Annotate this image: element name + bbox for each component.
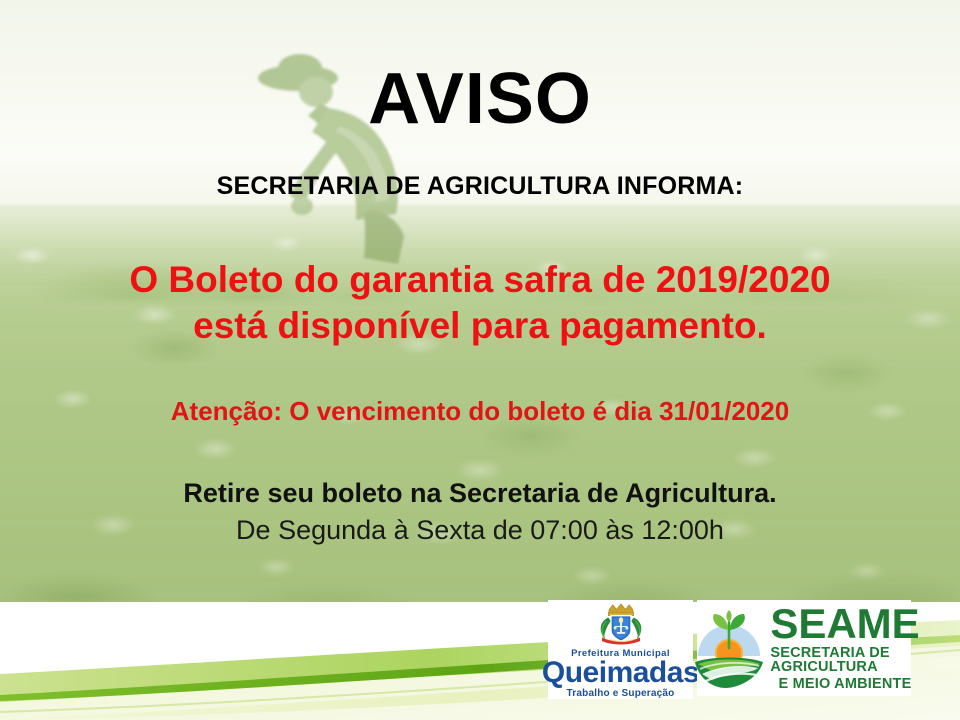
sprout-sun-field-icon xyxy=(692,608,766,688)
poster-title: AVISO xyxy=(0,63,960,135)
queimadas-slogan: Trabalho e Superação xyxy=(567,688,675,699)
headline-line-1: O Boleto do garantia safra de 2019/2020 xyxy=(0,257,960,303)
seame-subtitle-line-2: E MEIO AMBIENTE xyxy=(770,677,919,692)
queimadas-coat-of-arms-icon xyxy=(590,603,652,647)
seame-wordmark: SEAME SECRETARIA DE AGRICULTURA E MEIO A… xyxy=(770,605,919,691)
seame-subtitle-line-1: SECRETARIA DE AGRICULTURA xyxy=(770,646,919,675)
aviso-poster: AVISO SECRETARIA DE AGRICULTURA INFORMA:… xyxy=(0,0,960,720)
poster-due-date-notice: Atenção: O vencimento do boleto é dia 31… xyxy=(0,396,960,427)
queimadas-logo: Prefeitura Municipal Queimadas Trabalho … xyxy=(548,600,693,699)
seame-acronym: SEAME xyxy=(770,605,919,644)
poster-opening-hours: De Segunda à Sexta de 07:00 às 12:00h xyxy=(0,515,960,546)
poster-headline: O Boleto do garantia safra de 2019/2020 … xyxy=(0,257,960,350)
headline-line-2: está disponível para pagamento. xyxy=(0,303,960,349)
poster-subtitle: SECRETARIA DE AGRICULTURA INFORMA: xyxy=(0,172,960,201)
poster-content: AVISO SECRETARIA DE AGRICULTURA INFORMA:… xyxy=(0,0,960,602)
seame-logo: SEAME SECRETARIA DE AGRICULTURA E MEIO A… xyxy=(697,600,911,696)
queimadas-name: Queimadas xyxy=(542,659,699,688)
logo-strip: Prefeitura Municipal Queimadas Trabalho … xyxy=(548,600,911,699)
poster-pickup-instruction: Retire seu boleto na Secretaria de Agric… xyxy=(0,478,960,509)
